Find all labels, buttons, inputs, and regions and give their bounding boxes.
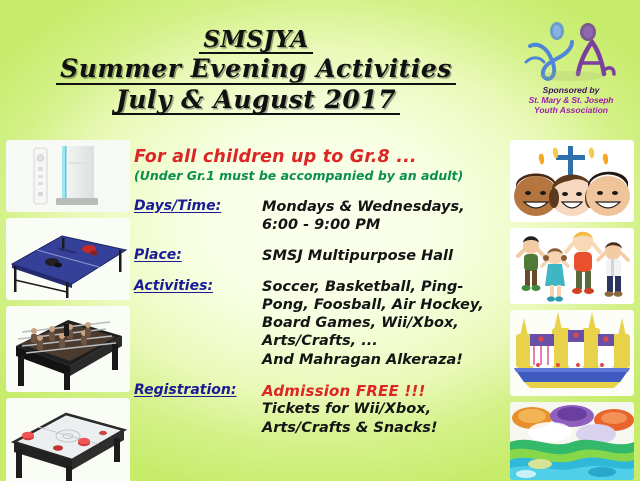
label-days-time: Days/Time: (134, 198, 262, 215)
activities-line-2: Pong, Foosball, Air Hockey, (262, 296, 506, 314)
air-hockey-table-photo (6, 398, 130, 481)
title-line-organization: SMSJYA (199, 28, 312, 54)
sponsor-org-line-1: St. Mary & St. Joseph (505, 95, 637, 105)
sponsored-by-label: Sponsored by (505, 85, 637, 95)
place-line-1: SMSJ Multipurpose Hall (262, 247, 506, 265)
value-place: SMSJ Multipurpose Hall (262, 247, 506, 265)
detail-row-days-time: Days/Time: Mondays & Wednesdays, 6:00 - … (134, 198, 506, 234)
children-with-cross-illustration (510, 140, 634, 222)
label-registration: Registration: (134, 382, 262, 399)
label-activities: Activities: (134, 278, 262, 295)
value-days-time: Mondays & Wednesdays, 6:00 - 9:00 PM (262, 198, 506, 234)
detail-row-activities: Activities: Soccer, Basketball, Ping- Po… (134, 278, 506, 369)
lead-subtext: (Under Gr.1 must be accompanied by an ad… (134, 169, 506, 183)
registration-line-2: Arts/Crafts & Snacks! (262, 419, 506, 437)
value-activities: Soccer, Basketball, Ping- Pong, Foosball… (262, 278, 506, 369)
poster-title: SMSJYA Summer Evening Activities July & … (0, 28, 512, 117)
title-line-dates: July & August 2017 (112, 87, 400, 116)
activities-line-5: And Mahragan Alkeraza! (262, 351, 506, 369)
title-line-event: Summer Evening Activities (56, 56, 456, 85)
registration-line-1: Tickets for Wii/Xbox, (262, 400, 506, 418)
ping-pong-table-photo (6, 218, 130, 300)
value-registration: Admission FREE !!! Tickets for Wii/Xbox,… (262, 382, 506, 437)
activities-line-1: Soccer, Basketball, Ping- (262, 278, 506, 296)
details-panel: For all children up to Gr.8 ... (Under G… (134, 148, 506, 437)
left-image-column (2, 140, 134, 481)
arts-crafts-paint-photo (510, 402, 634, 480)
jumping-kids-illustration (510, 228, 634, 304)
bouncy-castle-photo (510, 310, 634, 396)
activities-line-4: Arts/Crafts, ... (262, 332, 506, 350)
days-time-line-2: 6:00 - 9:00 PM (262, 216, 506, 234)
foosball-table-photo (6, 306, 130, 392)
days-time-line-1: Mondays & Wednesdays, (262, 198, 506, 216)
ya-logo-icon (516, 22, 626, 84)
lead-headline: For all children up to Gr.8 ... (134, 148, 506, 167)
detail-row-place: Place: SMSJ Multipurpose Hall (134, 247, 506, 265)
detail-row-registration: Registration: Admission FREE !!! Tickets… (134, 382, 506, 437)
sponsor-logo-block: Sponsored by St. Mary & St. Joseph Youth… (505, 22, 637, 115)
wii-console-photo (6, 140, 130, 212)
poster-canvas: SMSJYA Summer Evening Activities July & … (0, 0, 640, 481)
activities-line-3: Board Games, Wii/Xbox, (262, 314, 506, 332)
sponsor-org-line-2: Youth Association (505, 105, 637, 115)
admission-free-text: Admission FREE !!! (262, 382, 506, 401)
right-image-column (506, 140, 638, 481)
label-place: Place: (134, 247, 262, 264)
